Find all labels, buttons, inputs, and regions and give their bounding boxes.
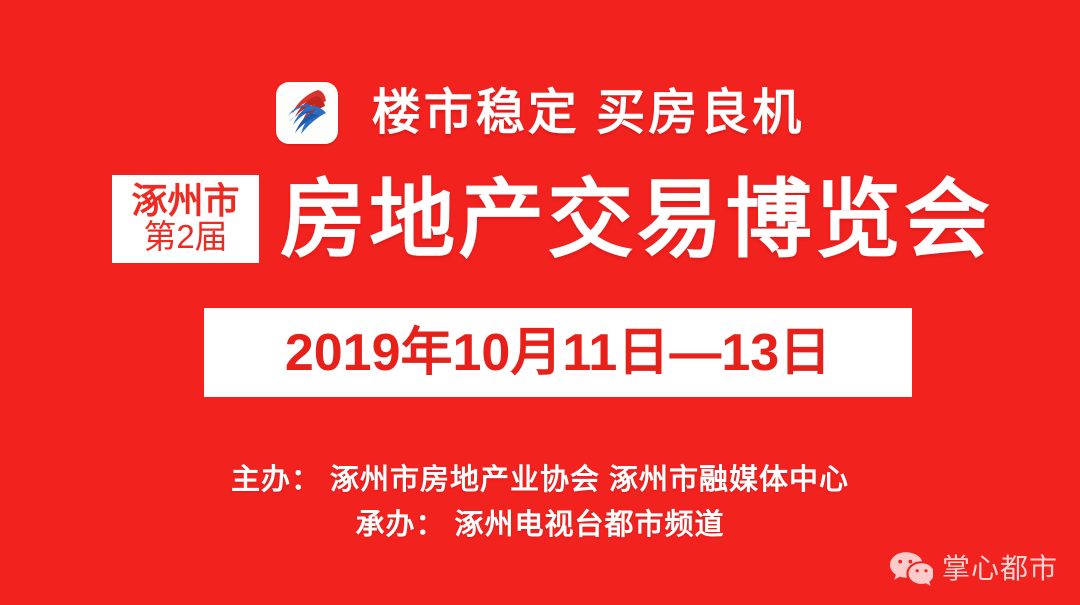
date-banner: 2019年10月11日—13日	[204, 308, 912, 397]
main-title-char: 地	[369, 177, 455, 263]
main-title-char: 博	[726, 177, 812, 263]
main-title-char: 交	[547, 177, 633, 263]
poster-canvas: 楼市稳定 买房良机 涿州市 第2届 房 地 产 交 易 博 览 会 2019年1…	[0, 0, 1080, 605]
edition-badge-number: 第2届	[143, 219, 227, 255]
wechat-icon	[889, 551, 933, 587]
organizer-block: 主办： 涿州市房地产业协会 涿州市融媒体中心 承办： 涿州电视台都市频道	[0, 458, 1080, 548]
organizer-line-coordinator: 承办： 涿州电视台都市频道	[0, 503, 1080, 548]
edition-badge: 涿州市 第2届	[112, 175, 259, 263]
main-title-char: 房	[280, 177, 366, 263]
wechat-account-name: 掌心都市	[942, 555, 1058, 583]
main-title-char: 易	[637, 177, 723, 263]
main-title-char: 产	[458, 177, 544, 263]
poster-main-title: 房 地 产 交 易 博 览 会	[280, 172, 990, 268]
poster-tagline: 楼市稳定 买房良机	[372, 89, 805, 138]
headline-row: 涿州市 第2届 房 地 产 交 易 博 览 会	[0, 172, 1080, 268]
main-title-char: 会	[904, 177, 990, 263]
organizer-line-host: 主办： 涿州市房地产业协会 涿州市融媒体中心	[0, 458, 1080, 503]
main-title-char: 览	[815, 177, 901, 263]
dual-swoosh-logo-icon	[276, 82, 338, 144]
wechat-watermark: 掌心都市	[889, 551, 1058, 587]
edition-badge-city: 涿州市	[131, 182, 239, 219]
tagline-row: 楼市稳定 买房良机	[0, 78, 1080, 148]
event-date-text: 2019年10月11日—13日	[285, 327, 831, 379]
